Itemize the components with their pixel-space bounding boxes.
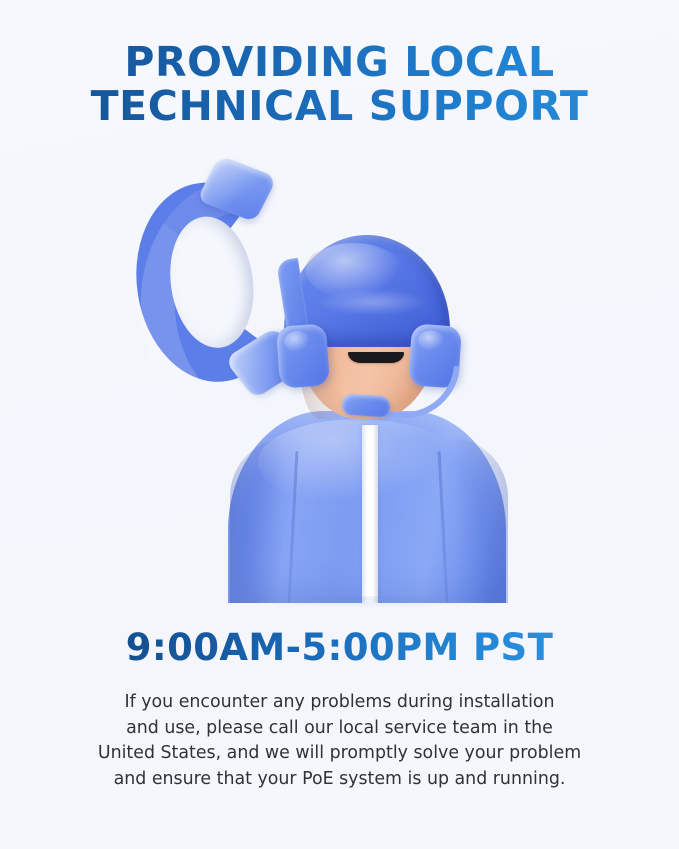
headset-earcup-left-highlight	[283, 331, 310, 353]
support-hours-text: 9:00AM-5:00PM PST	[126, 626, 554, 669]
headset-earcup-right-highlight	[417, 330, 444, 352]
headset-earcup-left	[276, 323, 330, 388]
jacket-zipper	[362, 425, 378, 603]
agent-head	[274, 243, 460, 419]
page-title-line-2: TECHNICAL SUPPORT	[0, 84, 679, 128]
page-title: PROVIDING LOCAL TECHNICAL SUPPORT	[0, 40, 679, 129]
support-description-line-2: and use, please call our local service t…	[40, 716, 640, 742]
figure-ground-shadow	[228, 596, 506, 608]
agent-jacket	[228, 411, 506, 603]
jacket-right-arm-shading	[446, 437, 508, 603]
jacket-left-arm-shading	[230, 437, 292, 603]
headset-microphone	[341, 393, 390, 417]
support-description-line-3: United States, and we will promptly solv…	[40, 741, 640, 767]
support-description: If you encounter any problems during ins…	[40, 690, 640, 792]
support-agent-illustration	[0, 150, 679, 615]
agent-figure	[226, 183, 508, 603]
page-title-line-1: PROVIDING LOCAL	[0, 40, 679, 84]
support-hours: 9:00AM-5:00PM PST	[0, 626, 679, 669]
poster-root: PROVIDING LOCAL TECHNICAL SUPPORT	[0, 0, 679, 849]
agent-cap-gloss-secondary	[318, 289, 428, 315]
support-description-line-4: and ensure that your PoE system is up an…	[40, 767, 640, 793]
agent-torso	[226, 401, 508, 603]
support-description-line-1: If you encounter any problems during ins…	[40, 690, 640, 716]
